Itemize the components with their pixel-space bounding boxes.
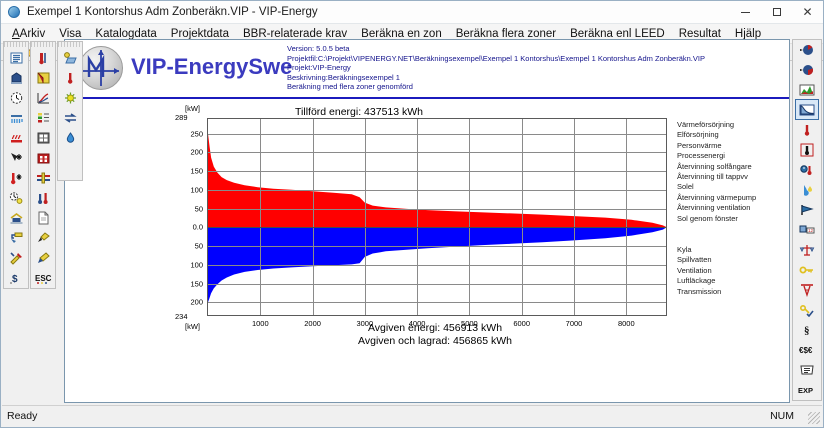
gridline-vertical <box>260 119 261 315</box>
meta-beskrivning: Beskrivning:Beräkningsexempel 1 <box>287 73 705 83</box>
thermometer-wall-icon[interactable] <box>32 48 54 67</box>
snowflake-cursor-icon[interactable] <box>5 148 27 167</box>
building-icon[interactable] <box>5 68 27 87</box>
pie-chart-icon[interactable] <box>796 40 818 59</box>
gridline-horizontal <box>208 209 666 210</box>
plot-area: 250200150100500.050100150200100020003000… <box>207 118 667 316</box>
left-toolbar-tertiary <box>57 41 83 181</box>
esc-icon[interactable]: ESC <box>32 268 54 287</box>
key-check-icon[interactable] <box>796 300 818 319</box>
y-axis-unit-top: [kW] <box>185 104 200 113</box>
water-drop-icon[interactable] <box>59 128 81 147</box>
chart-footnotes: Avgiven energi: 456913 kWh Avgiven och l… <box>245 322 625 348</box>
svg-text:$: $ <box>12 274 18 285</box>
legend-item: Kyla <box>677 245 721 255</box>
menu-projektdata-label: Projektdata <box>171 28 229 40</box>
legend-item: Värmeförsörjning <box>677 120 756 130</box>
exp-icon[interactable]: EXP <box>796 380 818 399</box>
legend-item: Processenergi <box>677 151 756 161</box>
status-bar: Ready NUM <box>2 405 822 426</box>
meta-projektfil: Projektfil:C:\Projekt\VIPENERGY.NET\Berä… <box>287 54 705 64</box>
project-meta: Version: 5.0.5 beta Projektfil:C:\Projek… <box>287 44 705 92</box>
fan-icon[interactable] <box>59 108 81 127</box>
heat-red-icon[interactable] <box>5 128 27 147</box>
gridline-vertical <box>417 119 418 315</box>
gridline-vertical <box>522 119 523 315</box>
y-axis-tick-label: 50 <box>195 242 203 251</box>
currency-icon[interactable]: €$€ <box>796 340 818 359</box>
svg-text:§: § <box>804 325 810 337</box>
sun-icon[interactable] <box>59 88 81 107</box>
left-toolbar-primary: $ <box>3 41 29 289</box>
pie-chart-2-icon[interactable] <box>796 60 818 79</box>
series-area <box>208 134 666 228</box>
gridline-horizontal <box>208 302 666 303</box>
toolbar-grip[interactable] <box>4 42 28 47</box>
meta-berakning: Beräkning med flera zoner genomförd <box>287 82 705 92</box>
thermometer-snow-icon[interactable] <box>5 168 27 187</box>
status-message: Ready <box>2 410 37 422</box>
footnote-avgiven-energi: Avgiven energi: 456913 kWh <box>245 322 625 335</box>
legend-supplied: Värmeförsörjning Elförsörjning Personvär… <box>677 120 756 224</box>
menu-berakna-flera-zoner-label: Beräkna flera zoner <box>456 28 556 40</box>
grid-window-icon[interactable] <box>32 128 54 147</box>
y-axis-tick-label: 50 <box>195 204 203 213</box>
right-toolbar: 12 § €$€ EXP <box>792 39 822 401</box>
vip-energy-logo <box>79 46 125 92</box>
red-building-icon[interactable] <box>32 148 54 167</box>
zero-axis-line <box>208 227 666 228</box>
duration-curve-chart: Tillförd energi: 437513 kWh [kW] [kW] 28… <box>65 100 789 402</box>
document-header: VIP-EnergySwe Version: 5.0.5 beta Projek… <box>65 40 789 98</box>
dollar-sum-icon[interactable]: $ <box>5 268 27 287</box>
left-toolbar-secondary: ESC <box>30 41 56 289</box>
y-axis-min-label: 234 <box>175 312 188 321</box>
y-axis-tick-label: 200 <box>190 298 203 307</box>
gridline-vertical <box>365 119 366 315</box>
paint-brush2-icon[interactable] <box>32 248 54 267</box>
thermo-clock-icon[interactable] <box>796 160 818 179</box>
menu-resultat-label: Resultat <box>679 28 721 40</box>
clock-icon[interactable] <box>5 88 27 107</box>
legend-item: Luftläckage <box>677 276 721 286</box>
meter-icon[interactable]: 12 <box>796 220 818 239</box>
menu-visa-label: Visa <box>59 28 81 40</box>
document-icon[interactable] <box>32 208 54 227</box>
menu-arkiv-label: Arkiv <box>20 28 46 40</box>
paint-roller-icon[interactable] <box>5 228 27 247</box>
close-button[interactable]: ✕ <box>792 1 823 23</box>
footnote-avgiven-lagrad: Avgiven och lagrad: 456865 kWh <box>245 335 625 348</box>
menu-berakna-en-zon-label: Beräkna en zon <box>361 28 442 40</box>
brand-title: VIP-EnergySwe <box>131 54 292 80</box>
pipes-icon[interactable] <box>32 168 54 187</box>
meta-projekt: Projekt:VIP-Energy <box>287 63 705 73</box>
window-title: Exempel 1 Kontorshus Adm Zonberäkn.VIP -… <box>27 6 318 18</box>
flag-icon[interactable] <box>796 200 818 219</box>
toolbar-grip[interactable] <box>31 42 55 47</box>
legend-item: Personvärme <box>677 141 756 151</box>
gridline-horizontal <box>208 152 666 153</box>
meta-version: Version: 5.0.5 beta <box>287 44 705 54</box>
svg-text:€$€: €$€ <box>799 346 813 355</box>
area-chart-icon[interactable] <box>796 80 818 99</box>
paint-brush-icon[interactable] <box>32 228 54 247</box>
header-divider <box>65 97 789 99</box>
app-icon <box>7 5 23 19</box>
document-client-area: VIP-EnergySwe Version: 5.0.5 beta Projek… <box>64 39 790 403</box>
chart-title: Tillförd energi: 437513 kWh <box>295 106 423 118</box>
gridline-horizontal <box>208 190 666 191</box>
thermo-pair-icon[interactable] <box>32 188 54 207</box>
gridline-vertical <box>469 119 470 315</box>
legend-delivered: Kyla Spillvatten Ventilation Luftläckage… <box>677 245 721 297</box>
legend-item: Återvinning värmepump <box>677 193 756 203</box>
solar-panel-icon[interactable] <box>59 48 81 67</box>
clock-sun-icon[interactable] <box>5 188 27 207</box>
key-icon[interactable] <box>796 260 818 279</box>
gridline-horizontal <box>208 265 666 266</box>
menu-hjalp-label: Hjälp <box>735 28 761 40</box>
y-axis-max-label: 289 <box>175 113 188 122</box>
plot-series-svg <box>208 119 666 315</box>
gridline-horizontal <box>208 134 666 135</box>
y-axis-tick-label: 150 <box>190 167 203 176</box>
scales-icon[interactable] <box>796 240 818 259</box>
droplet-heat-icon[interactable] <box>796 180 818 199</box>
legend-item: Sol genom fönster <box>677 214 756 224</box>
y-axis-unit-bottom: [kW] <box>185 322 200 331</box>
y-axis-tick-label: 250 <box>190 129 203 138</box>
legend-item: Återvinning till tappvv <box>677 172 756 182</box>
application-window: Exempel 1 Kontorshus Adm Zonberäkn.VIP -… <box>0 0 824 428</box>
report-icon[interactable] <box>796 360 818 379</box>
color-legend-icon[interactable] <box>32 108 54 127</box>
toolbar-grip[interactable] <box>58 42 82 47</box>
y-axis-tick-label: 100 <box>190 185 203 194</box>
legend-item: Elförsörjning <box>677 130 756 140</box>
y-axis-tick-label: 0.0 <box>193 223 203 232</box>
svg-text:EXP: EXP <box>798 386 813 395</box>
svg-text:12: 12 <box>808 228 814 233</box>
y-axis-tick-label: 150 <box>190 279 203 288</box>
tower-icon[interactable] <box>796 280 818 299</box>
gridline-horizontal <box>208 284 666 285</box>
tools-pen-icon[interactable] <box>5 248 27 267</box>
y-axis-tick-label: 100 <box>190 260 203 269</box>
maximize-button[interactable] <box>761 1 792 23</box>
thermometer-icon[interactable] <box>796 120 818 139</box>
menu-bbr-krav-label: BBR-relaterade krav <box>243 28 347 40</box>
thermometer-boxed-icon[interactable] <box>796 140 818 159</box>
rain-blue-icon[interactable] <box>5 108 27 127</box>
gridline-vertical <box>626 119 627 315</box>
minimize-button[interactable] <box>730 1 761 23</box>
duration-curve-icon[interactable] <box>796 100 818 119</box>
paragraph-icon[interactable]: § <box>796 320 818 339</box>
legend-item: Solel <box>677 182 756 192</box>
menu-arkiv[interactable]: AArkivArkiv <box>5 26 52 42</box>
legend-item: Transmission <box>677 287 721 297</box>
gridline-vertical <box>574 119 575 315</box>
svg-text:ESC: ESC <box>35 274 52 283</box>
list-lines-icon[interactable] <box>5 48 27 67</box>
gridline-vertical <box>313 119 314 315</box>
resize-grip[interactable] <box>808 412 820 424</box>
legend-item: Ventilation <box>677 266 721 276</box>
legend-item: Återvinning ventilation <box>677 203 756 213</box>
gridline-horizontal <box>208 171 666 172</box>
legend-item: Spillvatten <box>677 255 721 265</box>
y-axis-tick-label: 200 <box>190 148 203 157</box>
title-bar: Exempel 1 Kontorshus Adm Zonberäkn.VIP -… <box>1 1 823 24</box>
thermometer-icon[interactable] <box>59 68 81 87</box>
menu-berakna-leed-label: Beräkna enl LEED <box>570 28 665 40</box>
curve-graph-icon[interactable] <box>32 88 54 107</box>
window-corner-icon[interactable] <box>32 68 54 87</box>
legend-item: Återvinning solfångare <box>677 162 756 172</box>
house-ground-icon[interactable] <box>5 208 27 227</box>
menu-katalogdata-label: Katalogdata <box>95 28 156 40</box>
gridline-horizontal <box>208 246 666 247</box>
